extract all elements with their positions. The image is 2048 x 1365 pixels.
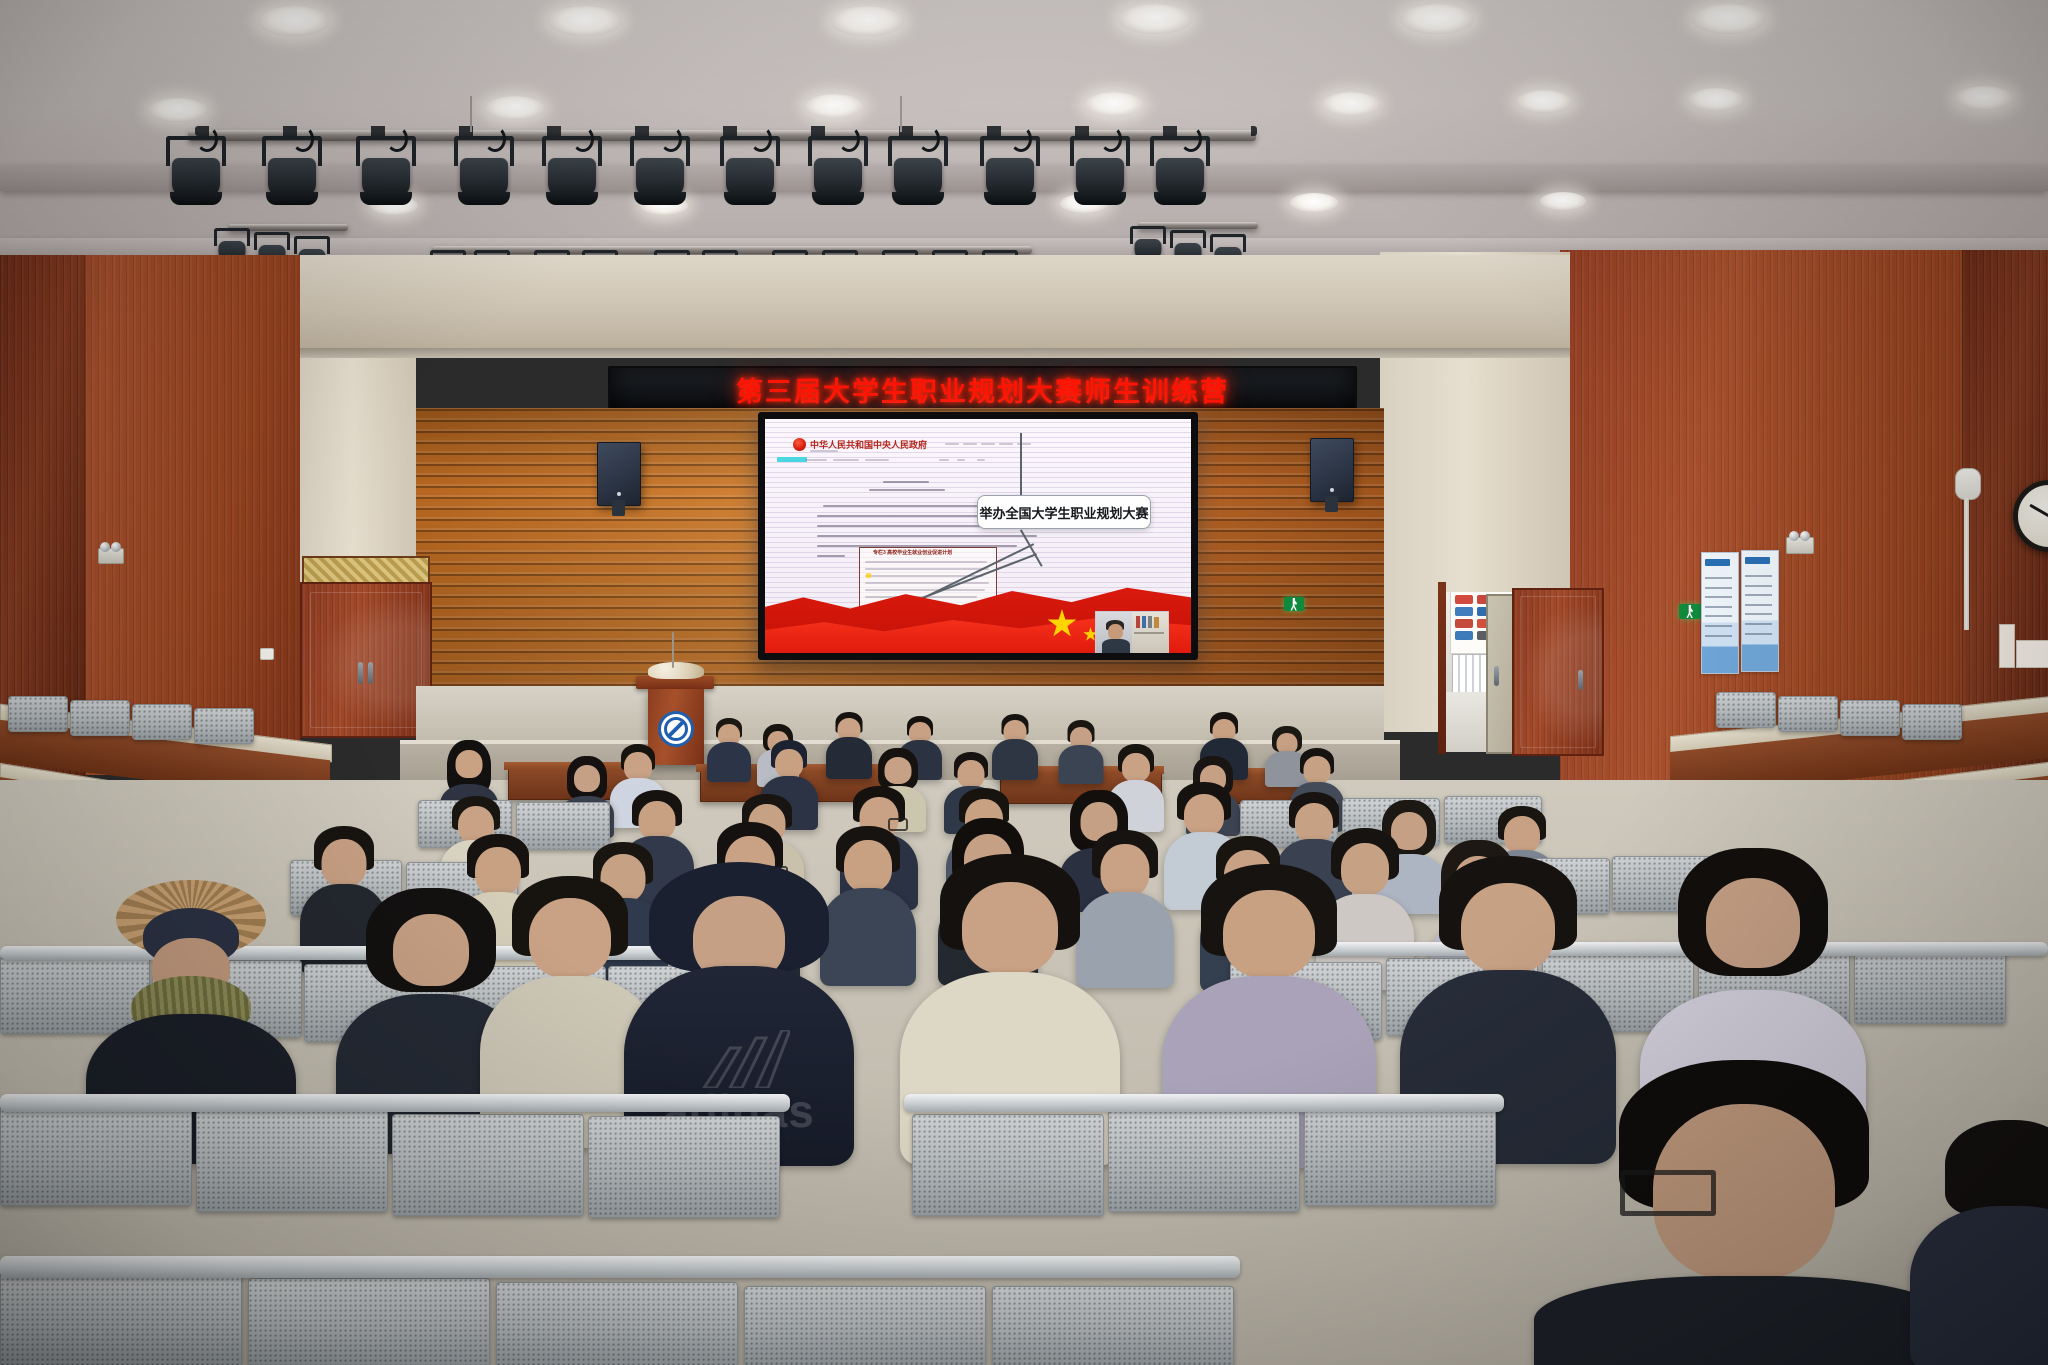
exit-icon	[1686, 605, 1694, 618]
foreground-seat[interactable]	[1854, 946, 2006, 1024]
flank-seat[interactable]	[1778, 696, 1838, 732]
ceiling-downlight	[548, 6, 622, 36]
speaker-mount-left	[612, 500, 625, 516]
info-poster-2	[1741, 550, 1779, 672]
audience-member	[706, 718, 752, 782]
wall-speaker-right	[1310, 438, 1354, 502]
clock-hand-minute	[2029, 504, 2048, 518]
exit-sign-right	[1679, 604, 1701, 619]
ceiling-downlight	[1516, 90, 1572, 113]
emergency-light-left	[98, 548, 124, 564]
inner-box-title: 专栏3 高校毕业生就业创业促进计划	[873, 549, 952, 556]
nearest-seat[interactable]	[496, 1282, 738, 1365]
door-right[interactable]	[1512, 588, 1604, 756]
flank-seat[interactable]	[1716, 692, 1776, 728]
ceiling-downlight	[1290, 193, 1338, 212]
audience-member	[992, 714, 1038, 778]
foreground-seat-near[interactable]	[588, 1116, 780, 1218]
projection-screen: 中华人民共和国中央人民政府	[758, 412, 1198, 660]
nearest-seat[interactable]	[248, 1278, 490, 1365]
flank-seat[interactable]	[132, 704, 192, 740]
foreground-seat-near[interactable]	[392, 1114, 584, 1216]
seat-armrest-rail-nearest[interactable]	[0, 1256, 1240, 1278]
emergency-light-right	[1786, 537, 1814, 554]
ceiling-downlight	[148, 98, 208, 122]
foreground-seat-near[interactable]	[1304, 1104, 1496, 1206]
sensor-conduit	[1964, 498, 1969, 630]
university-emblem	[658, 711, 694, 747]
ceiling-downlight	[1540, 192, 1586, 210]
ceiling-downlight	[258, 6, 330, 36]
exit-sign-corridor	[1284, 597, 1304, 611]
seat-armrest-rail-near[interactable]	[904, 1094, 1504, 1112]
nearest-seat[interactable]	[992, 1286, 1234, 1365]
wall-notice-right	[2016, 640, 2048, 668]
audience-member-nearest	[1534, 1060, 1954, 1365]
ceiling-downlight	[805, 94, 863, 118]
poster-title-bar	[1745, 557, 1770, 564]
ceiling-downlight	[1085, 92, 1143, 116]
foreground-seat-near[interactable]	[196, 1110, 388, 1212]
door-handle-left[interactable]	[368, 662, 373, 684]
light-switch-left[interactable]	[260, 648, 274, 660]
door-left[interactable]	[300, 582, 432, 738]
led-banner-text: 第三届大学生职业规划大赛师生训练营	[736, 370, 1229, 409]
highlight-marker	[866, 573, 871, 578]
truss-hanger	[470, 96, 472, 132]
callout-leader	[1020, 433, 1022, 495]
speaker-mount-right	[1325, 496, 1338, 512]
flank-seat[interactable]	[1902, 704, 1962, 740]
podium-microphone	[672, 632, 674, 668]
led-banner: 第三届大学生职业规划大赛师生训练营	[608, 366, 1357, 412]
audience-member-nearest	[1910, 1120, 2048, 1365]
nearest-seat[interactable]	[0, 1272, 242, 1365]
truss-hanger	[900, 96, 902, 132]
exit-icon	[1290, 598, 1298, 611]
flank-seat[interactable]	[8, 696, 68, 732]
ceiling-downlight	[830, 6, 904, 36]
door-handle-left[interactable]	[358, 662, 363, 684]
national-emblem-icon	[793, 438, 806, 451]
proscenium-shadowline	[300, 348, 1570, 358]
speaker-video-thumbnail	[1095, 611, 1169, 653]
ceiling-downlight	[1400, 4, 1474, 34]
nearest-seat[interactable]	[744, 1286, 986, 1365]
callout-text: 举办全国大学生职业规划大赛	[979, 503, 1148, 522]
door-frame-right	[1438, 582, 1446, 754]
glasses-icon	[1620, 1170, 1716, 1216]
poster-title-bar	[1705, 559, 1730, 566]
ceiling-downlight	[1955, 86, 2013, 110]
audience-member	[1058, 720, 1104, 782]
door-handle-right[interactable]	[1494, 666, 1499, 686]
foreground-seat-near[interactable]	[912, 1114, 1104, 1216]
foreground-seat-near[interactable]	[1108, 1110, 1300, 1212]
auditorium-photo: 第三届大学生职业规划大赛师生训练营 中华人民共和国中央人民政府	[0, 0, 2048, 1365]
foreground-seat-near[interactable]	[0, 1104, 192, 1206]
screen-content: 中华人民共和国中央人民政府	[765, 419, 1191, 653]
flank-seat[interactable]	[70, 700, 130, 736]
audience-member	[826, 712, 872, 778]
adidas-stripes-icon	[694, 1030, 790, 1088]
door-handle-right-2[interactable]	[1578, 670, 1583, 690]
government-document: 中华人民共和国中央人民政府	[765, 419, 1191, 653]
browser-progress-bar	[777, 457, 807, 462]
info-poster-1	[1701, 552, 1739, 674]
callout-box: 举办全国大学生职业规划大赛	[977, 495, 1151, 529]
podium-flowers	[648, 662, 704, 679]
ceiling-downlight	[485, 96, 545, 120]
wall-speaker-left	[597, 442, 641, 506]
flank-seat[interactable]	[194, 708, 254, 744]
proscenium-header	[300, 255, 1570, 355]
ceiling-downlight	[1118, 4, 1192, 34]
ceiling-downlight	[1688, 88, 1744, 111]
motion-sensor	[1955, 468, 1981, 500]
ceiling-downlight	[1692, 4, 1766, 34]
truss-cable-bundle	[195, 126, 1257, 136]
wall-notice-far-right	[1999, 624, 2015, 668]
flank-seat[interactable]	[1840, 700, 1900, 736]
seat-armrest-rail-near[interactable]	[0, 1094, 790, 1112]
ceiling-downlight	[1322, 92, 1380, 116]
